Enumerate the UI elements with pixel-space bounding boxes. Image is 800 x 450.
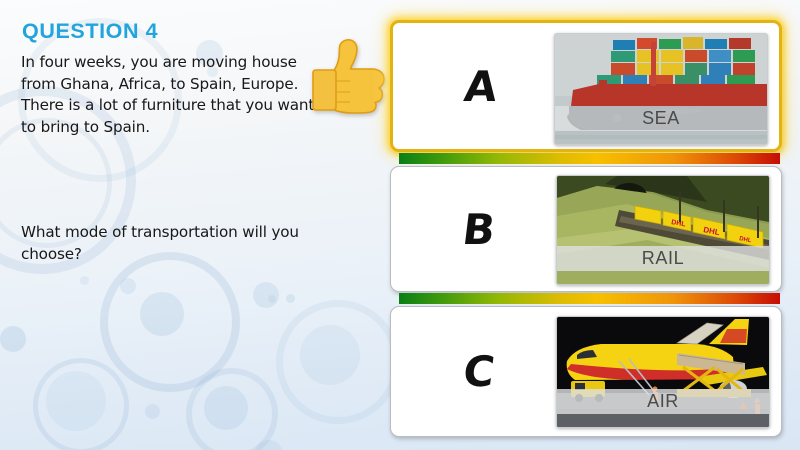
page-title: QUESTION 4 bbox=[22, 19, 158, 44]
question-scenario-text: In four weeks, you are moving house from… bbox=[21, 52, 321, 138]
divider-bar-2 bbox=[399, 293, 780, 304]
dhl-cargo-plane-photo: AIR bbox=[556, 316, 770, 428]
option-letter-c: C bbox=[383, 307, 575, 436]
option-caption-c: AIR bbox=[557, 389, 769, 414]
option-card-a[interactable]: A bbox=[390, 20, 782, 152]
thumbs-up-icon bbox=[306, 36, 388, 114]
option-letter-b: B bbox=[383, 167, 574, 291]
divider-bar-1 bbox=[399, 153, 780, 164]
question-prompt-text: What mode of transportation will you cho… bbox=[21, 222, 321, 265]
option-card-b[interactable]: B DHL DHL bbox=[390, 166, 782, 292]
quiz-slide: QUESTION 4 In four weeks, you are moving… bbox=[0, 0, 800, 450]
option-letter-a: A bbox=[385, 23, 576, 149]
option-caption-a: SEA bbox=[555, 106, 767, 131]
option-card-c[interactable]: C bbox=[390, 306, 782, 437]
container-ship-photo: SEA bbox=[554, 33, 768, 145]
option-caption-b: RAIL bbox=[557, 246, 769, 271]
dhl-freight-train-photo: DHL DHL DHL RAIL bbox=[556, 175, 770, 285]
